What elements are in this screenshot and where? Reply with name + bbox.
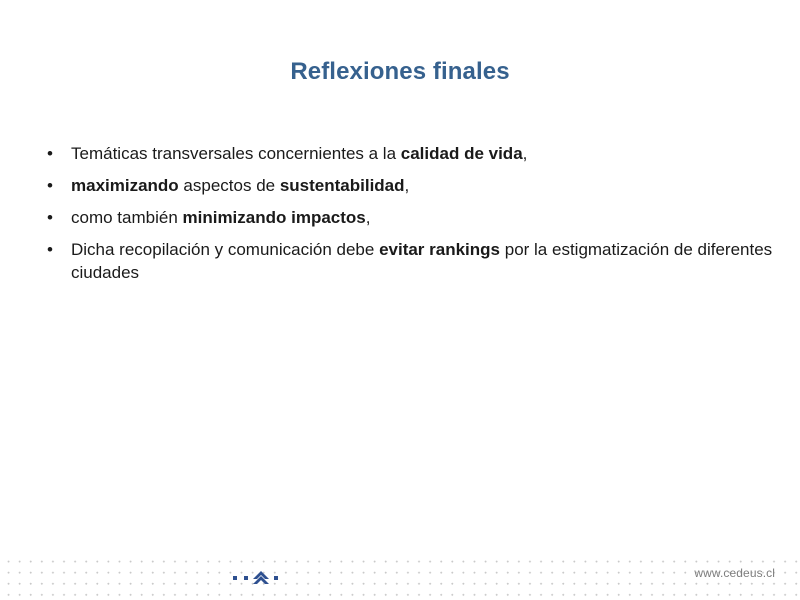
bullet-segment-bold: maximizando bbox=[71, 176, 179, 195]
bullet-text: como también minimizando impactos, bbox=[71, 208, 370, 227]
bullet-text: Temáticas transversales concernientes a … bbox=[71, 144, 527, 163]
bullet-marker-icon: • bbox=[47, 206, 53, 229]
bullet-item: • como también minimizando impactos, bbox=[40, 206, 775, 229]
bullet-segment: , bbox=[366, 208, 371, 227]
bullet-segment: Dicha recopilación y comunicación debe bbox=[71, 240, 379, 259]
bullet-segment-bold: calidad de vida bbox=[401, 144, 523, 163]
bullet-segment-bold: sustentabilidad bbox=[280, 176, 405, 195]
bullet-text: Dicha recopilación y comunicación debe e… bbox=[71, 240, 772, 282]
bullet-marker-icon: • bbox=[47, 238, 53, 261]
bullet-marker-icon: • bbox=[47, 142, 53, 165]
slide-title: Reflexiones finales bbox=[0, 57, 800, 87]
slide-body-bullet-list: • Temáticas transversales concernientes … bbox=[40, 142, 775, 284]
bullet-marker-icon: • bbox=[47, 174, 53, 197]
bullet-segment: aspectos de bbox=[179, 176, 280, 195]
bullet-segment-bold: evitar rankings bbox=[379, 240, 500, 259]
bullet-item: • maximizando aspectos de sustentabilida… bbox=[40, 174, 775, 197]
presentation-slide: Reflexiones finales • Temáticas transver… bbox=[0, 0, 800, 600]
bullet-segment: , bbox=[523, 144, 528, 163]
bullet-segment: como también bbox=[71, 208, 183, 227]
bullet-segment-bold: minimizando impactos bbox=[183, 208, 366, 227]
bullet-item: • Temáticas transversales concernientes … bbox=[40, 142, 775, 165]
cedeus-chevron-logo-icon bbox=[233, 571, 289, 585]
bullet-segment: Temáticas transversales concernientes a … bbox=[71, 144, 401, 163]
slide-footer: www.cedeus.cl bbox=[0, 552, 800, 600]
bullet-text: maximizando aspectos de sustentabilidad, bbox=[71, 176, 409, 195]
bullet-item: • Dicha recopilación y comunicación debe… bbox=[40, 238, 775, 284]
footer-dot-pattern bbox=[0, 552, 800, 600]
footer-website-url[interactable]: www.cedeus.cl bbox=[694, 566, 775, 580]
bullet-segment: , bbox=[405, 176, 410, 195]
